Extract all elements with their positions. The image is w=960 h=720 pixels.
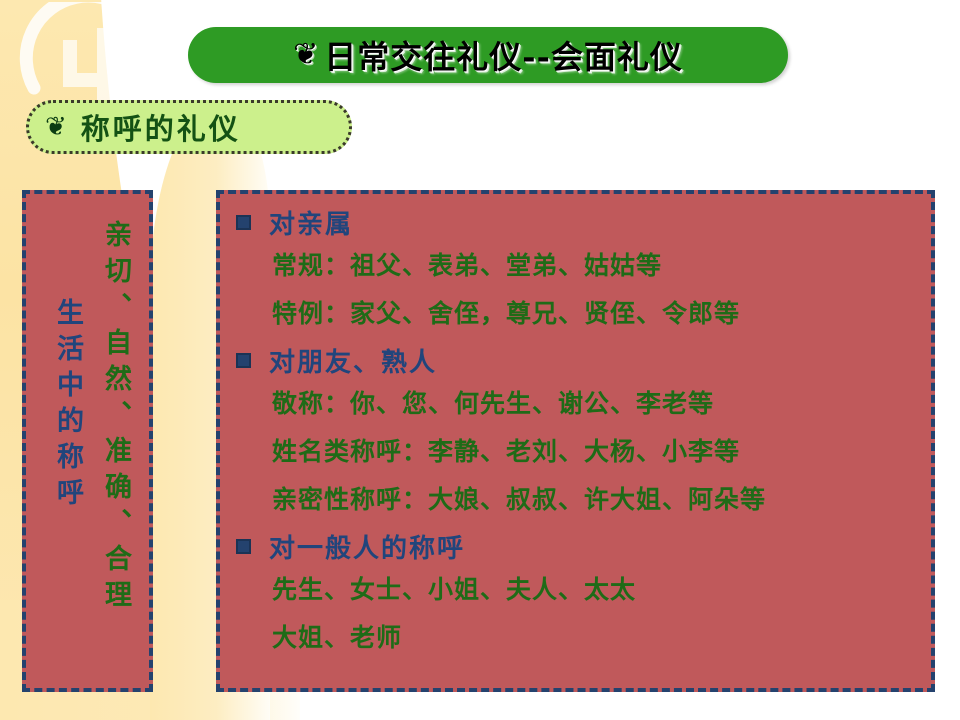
slide-title-banner: ❦ 日常交往礼仪--会面礼仪 [188, 27, 788, 83]
section-line: 敬称：你、您、何先生、谢公、李老等 [230, 380, 921, 428]
content-section: 对亲属 常规：祖父、表弟、堂弟、姑姑等 特例：家父、舍侄，尊兄、贤侄、令郎等 [230, 202, 921, 338]
square-bullet-icon [236, 215, 251, 230]
left-vertical-panel: 生活中的称呼 亲切、自然、准确、合理 [22, 190, 153, 692]
section-line: 姓名类称呼：李静、老刘、大杨、小李等 [230, 428, 921, 476]
section-line: 先生、女士、小姐、夫人、太太 [230, 566, 921, 614]
left-panel-primary-column: 生活中的称呼 [48, 298, 87, 514]
section-heading-text: 对亲属 [269, 204, 353, 241]
slide-subtitle-text: 称呼的礼仪 [81, 106, 241, 148]
section-line: 常规：祖父、表弟、堂弟、姑姑等 [230, 242, 921, 290]
content-section: 对一般人的称呼 先生、女士、小姐、夫人、太太 大姐、老师 [230, 526, 921, 662]
content-section: 对朋友、熟人 敬称：你、您、何先生、谢公、李老等 姓名类称呼：李静、老刘、大杨、… [230, 340, 921, 524]
slide-subtitle-banner: ❦ 称呼的礼仪 [26, 100, 352, 154]
section-line: 大姐、老师 [230, 614, 921, 662]
square-bullet-icon [236, 539, 251, 554]
section-line: 特例：家父、舍侄，尊兄、贤侄、令郎等 [230, 290, 921, 338]
section-heading: 对朋友、熟人 [230, 340, 921, 380]
left-panel-secondary-column: 亲切、自然、准确、合理 [96, 220, 135, 616]
section-heading-text: 对一般人的称呼 [269, 528, 465, 565]
main-content-panel: 对亲属 常规：祖父、表弟、堂弟、姑姑等 特例：家父、舍侄，尊兄、贤侄、令郎等 对… [216, 190, 935, 692]
section-line: 亲密性称呼：大娘、叔叔、许大姐、阿朵等 [230, 476, 921, 524]
section-heading: 对一般人的称呼 [230, 526, 921, 566]
section-heading: 对亲属 [230, 202, 921, 242]
decorative-swirl-bullet-icon: ❦ [45, 114, 67, 140]
decorative-swirl-bullet-icon: ❦ [293, 40, 318, 70]
slide-canvas: ❦ 日常交往礼仪--会面礼仪 ❦ 称呼的礼仪 生活中的称呼 亲切、自然、准确、合… [0, 0, 960, 720]
square-bullet-icon [236, 353, 251, 368]
slide-title-text: 日常交往礼仪--会面礼仪 [324, 32, 683, 78]
section-heading-text: 对朋友、熟人 [269, 342, 437, 379]
